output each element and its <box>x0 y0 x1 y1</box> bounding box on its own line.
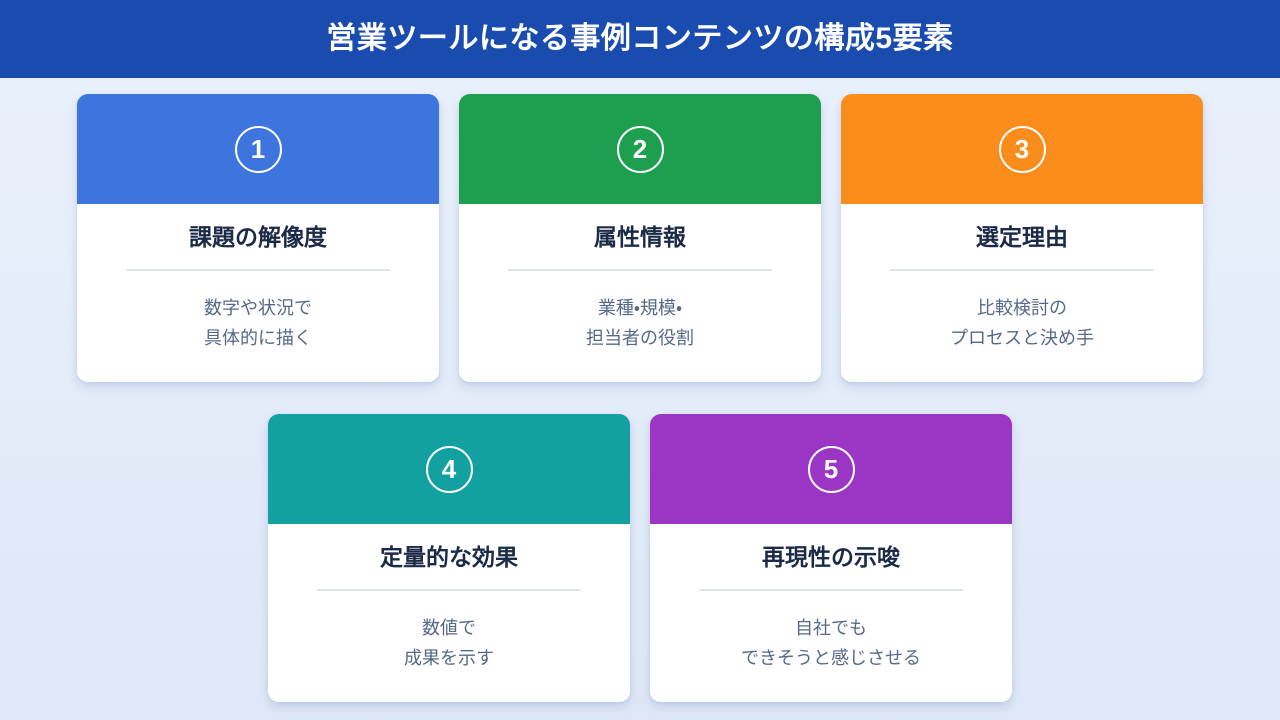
element-card-2[interactable]: 2 属性情報 業種・規模・ 担当者の役割 <box>459 94 821 382</box>
card-description-4: 数値で 成果を示す <box>404 613 494 673</box>
card-body-4: 定量的な効果 数値で 成果を示す <box>268 524 630 702</box>
card-accent-band-4: 4 <box>268 414 630 524</box>
card-body-2: 属性情報 業種・規模・ 担当者の役割 <box>459 204 821 382</box>
card-row-top: 1 課題の解像度 数字や状況で 具体的に描く 2 属性情報 業種・規模・ 担当者… <box>0 94 1280 382</box>
card-description-2: 業種・規模・ 担当者の役割 <box>586 293 694 353</box>
step-number-circle-4: 4 <box>426 446 473 493</box>
card-accent-band-5: 5 <box>650 414 1012 524</box>
card-divider-5 <box>699 589 963 591</box>
card-heading-2: 属性情報 <box>594 224 686 252</box>
card-divider-2 <box>508 269 772 271</box>
card-description-3: 比較検討の プロセスと決め手 <box>950 293 1094 353</box>
card-heading-1: 課題の解像度 <box>189 224 327 252</box>
card-divider-1 <box>126 269 390 271</box>
card-description-5: 自社でも できそうと感じさせる <box>741 613 921 673</box>
slide-header-bar: 営業ツールになる事例コンテンツの構成5要素 <box>0 0 1280 78</box>
card-body-1: 課題の解像度 数字や状況で 具体的に描く <box>77 204 439 382</box>
step-number-circle-5: 5 <box>808 446 855 493</box>
card-body-5: 再現性の示唆 自社でも できそうと感じさせる <box>650 524 1012 702</box>
card-accent-band-2: 2 <box>459 94 821 204</box>
card-description-1: 数字や状況で 具体的に描く <box>204 293 312 353</box>
card-accent-band-1: 1 <box>77 94 439 204</box>
card-accent-band-3: 3 <box>841 94 1203 204</box>
page-title: 営業ツールになる事例コンテンツの構成5要素 <box>326 24 953 54</box>
element-card-3[interactable]: 3 選定理由 比較検討の プロセスと決め手 <box>841 94 1203 382</box>
element-card-1[interactable]: 1 課題の解像度 数字や状況で 具体的に描く <box>77 94 439 382</box>
card-divider-4 <box>317 589 581 591</box>
step-number-circle-1: 1 <box>235 126 282 173</box>
card-heading-4: 定量的な効果 <box>380 544 518 572</box>
step-number-circle-2: 2 <box>617 126 664 173</box>
card-deck: 1 課題の解像度 数字や状況で 具体的に描く 2 属性情報 業種・規模・ 担当者… <box>0 78 1280 720</box>
element-card-4[interactable]: 4 定量的な効果 数値で 成果を示す <box>268 414 630 702</box>
element-card-5[interactable]: 5 再現性の示唆 自社でも できそうと感じさせる <box>650 414 1012 702</box>
card-divider-3 <box>890 269 1154 271</box>
step-number-circle-3: 3 <box>999 126 1046 173</box>
card-heading-5: 再現性の示唆 <box>762 544 900 572</box>
card-body-3: 選定理由 比較検討の プロセスと決め手 <box>841 204 1203 382</box>
card-row-bottom: 4 定量的な効果 数値で 成果を示す 5 再現性の示唆 自社でも できそうと感じ… <box>0 414 1280 702</box>
card-heading-3: 選定理由 <box>976 224 1068 252</box>
